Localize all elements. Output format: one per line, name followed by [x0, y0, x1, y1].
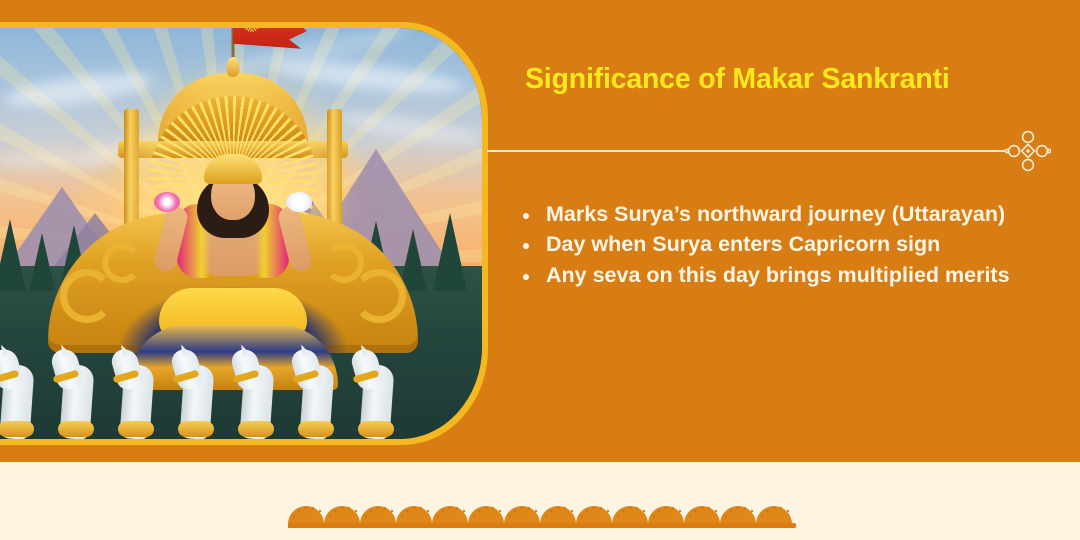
horse: [230, 347, 286, 439]
white-lotus: [286, 192, 312, 212]
pine-tree: [0, 219, 26, 291]
throne-swirl: [102, 243, 142, 283]
horse: [0, 347, 46, 439]
artwork-panel: [0, 22, 488, 445]
throne-swirl: [60, 269, 114, 323]
horse: [290, 347, 346, 439]
canopy-pillar: [327, 109, 342, 237]
artwork-image-clip: [0, 28, 482, 439]
bullet-list: Marks Surya’s northward journey (Uttaray…: [516, 200, 1056, 291]
horse: [170, 347, 226, 439]
page-title: Significance of Makar Sankranti: [525, 62, 1045, 96]
horse: [110, 347, 166, 439]
diamond-knot-ornament: [1005, 129, 1051, 173]
crown: [204, 154, 262, 184]
list-item: Marks Surya’s northward journey (Uttaray…: [516, 200, 1056, 229]
list-item: Day when Surya enters Capricorn sign: [516, 230, 1056, 259]
pine-tree: [433, 213, 467, 291]
surya-chariot-illustration: [0, 28, 482, 439]
slide-canvas: Significance of Makar Sankranti Marks Su…: [0, 0, 1080, 540]
list-item: Any seva on this day brings multiplied m…: [516, 261, 1056, 290]
divider-line: [487, 150, 1005, 152]
scalloped-arch-border: [286, 492, 798, 528]
title-divider: [487, 141, 1051, 161]
horse: [350, 347, 406, 439]
pine-tree: [29, 233, 55, 291]
throne-swirl: [324, 243, 364, 283]
sun-chakra-emblem: [243, 28, 260, 32]
pink-lotus: [154, 192, 180, 212]
surya-figure: [158, 154, 308, 344]
throne-swirl: [352, 269, 406, 323]
horse: [50, 347, 106, 439]
seven-horses: [0, 343, 482, 439]
